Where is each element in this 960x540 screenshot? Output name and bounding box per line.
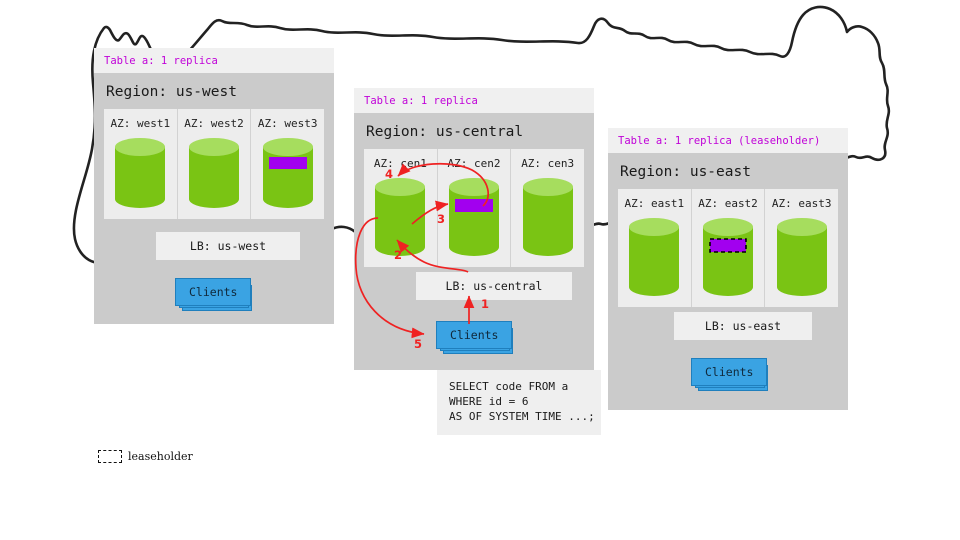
flow-step-number-4: 4 [385, 167, 393, 181]
node-cylinder-cen2[interactable] [447, 177, 501, 257]
az-label-cen2: AZ: cen2 [448, 157, 501, 170]
az-label-east1: AZ: east1 [625, 197, 685, 210]
region-title-us-central: Region: us-central [354, 113, 594, 149]
replica-bar-cen2 [455, 199, 493, 212]
legend-label: leaseholder [128, 450, 193, 463]
node-cylinder-cen1[interactable] [373, 177, 427, 257]
diagram-canvas: Table a: 1 replica Region: us-west AZ: w… [0, 0, 960, 540]
az-cell-west3[interactable]: AZ: west3 [251, 109, 324, 219]
replica-bar-west3 [269, 157, 307, 169]
flow-step-number-5: 5 [414, 337, 422, 351]
node-cylinder-west1[interactable] [113, 137, 167, 209]
region-header-us-central: Table a: 1 replica [354, 88, 594, 113]
flow-step-number-2: 2 [394, 248, 402, 262]
flow-step-number-3: 3 [437, 212, 445, 226]
flow-step-number-1: 1 [481, 297, 489, 311]
az-row-us-east: AZ: east1 AZ: east2 AZ: east3 [618, 189, 838, 307]
load-balancer-us-east[interactable]: LB: us-east [674, 312, 812, 340]
az-label-west1: AZ: west1 [111, 117, 171, 130]
region-header-us-east: Table a: 1 replica (leaseholder) [608, 128, 848, 153]
az-label-cen3: AZ: cen3 [521, 157, 574, 170]
az-cell-east1[interactable]: AZ: east1 [618, 189, 692, 307]
region-panel-us-west: Table a: 1 replica Region: us-west AZ: w… [94, 48, 334, 324]
legend: leaseholder [98, 450, 193, 463]
node-cylinder-west2[interactable] [187, 137, 241, 209]
clients-us-west[interactable]: Clients [175, 278, 251, 306]
az-cell-east2[interactable]: AZ: east2 [692, 189, 766, 307]
clients-label-us-central[interactable]: Clients [436, 321, 512, 349]
az-label-west3: AZ: west3 [258, 117, 318, 130]
leaseholder-swatch-icon [98, 450, 122, 463]
node-cylinder-east2[interactable] [701, 217, 755, 297]
load-balancer-us-west[interactable]: LB: us-west [156, 232, 300, 260]
load-balancer-us-central[interactable]: LB: us-central [416, 272, 572, 300]
az-row-us-west: AZ: west1 AZ: west2 AZ: west3 [104, 109, 324, 219]
clients-us-central[interactable]: Clients [436, 321, 512, 349]
az-label-west2: AZ: west2 [184, 117, 244, 130]
region-header-us-west: Table a: 1 replica [94, 48, 334, 73]
leaseholder-replica-bar-east2 [710, 239, 746, 252]
region-title-us-west: Region: us-west [94, 73, 334, 109]
region-panel-us-central: Table a: 1 replica Region: us-central AZ… [354, 88, 594, 370]
node-cylinder-east1[interactable] [627, 217, 681, 297]
region-panel-us-east: Table a: 1 replica (leaseholder) Region:… [608, 128, 848, 410]
az-cell-cen2[interactable]: AZ: cen2 [438, 149, 512, 267]
az-label-east3: AZ: east3 [772, 197, 832, 210]
clients-label-us-west[interactable]: Clients [175, 278, 251, 306]
node-cylinder-west3[interactable] [261, 137, 315, 209]
az-label-east2: AZ: east2 [698, 197, 758, 210]
node-cylinder-east3[interactable] [775, 217, 829, 297]
clients-label-us-east[interactable]: Clients [691, 358, 767, 386]
az-label-cen1: AZ: cen1 [374, 157, 427, 170]
az-cell-east3[interactable]: AZ: east3 [765, 189, 838, 307]
clients-us-east[interactable]: Clients [691, 358, 767, 386]
az-cell-cen3[interactable]: AZ: cen3 [511, 149, 584, 267]
sql-query-box: SELECT code FROM a WHERE id = 6 AS OF SY… [437, 370, 601, 435]
node-cylinder-cen3[interactable] [521, 177, 575, 257]
az-cell-west1[interactable]: AZ: west1 [104, 109, 178, 219]
region-title-us-east: Region: us-east [608, 153, 848, 189]
az-cell-west2[interactable]: AZ: west2 [178, 109, 252, 219]
